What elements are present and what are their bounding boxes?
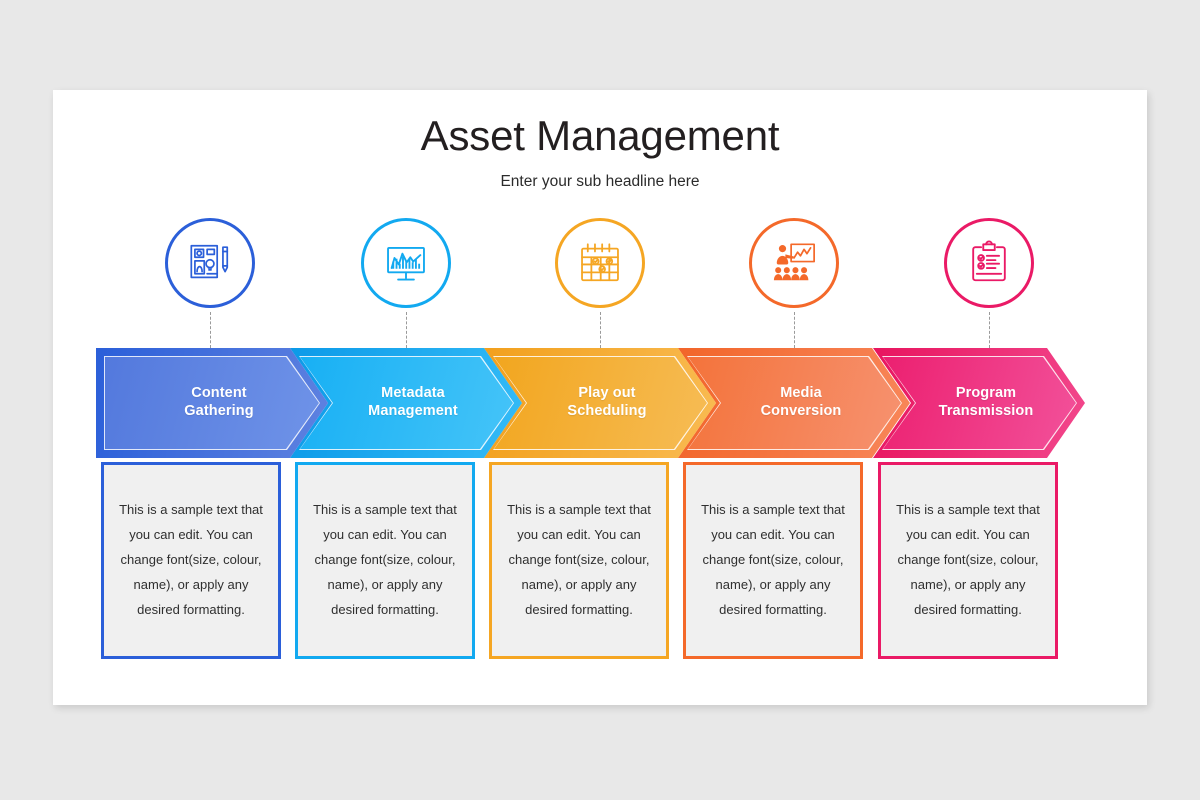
- banner-label-content-gathering: ContentGathering: [96, 348, 328, 458]
- banner-label-line2: Management: [368, 403, 458, 421]
- banner-label-line1: Content: [191, 385, 246, 403]
- banner-label-line1: Play out: [578, 385, 635, 403]
- banner-label-line1: Media: [780, 385, 822, 403]
- slide-canvas: Asset Management Enter your sub headline…: [53, 90, 1147, 705]
- stage-banner-content-gathering[interactable]: ContentGathering: [96, 348, 328, 458]
- banner-label-line1: Program: [956, 385, 1016, 403]
- icon-circle-program-transmission[interactable]: [944, 218, 1034, 308]
- banner-label-line2: Transmission: [939, 403, 1034, 421]
- banner-label-line2: Scheduling: [567, 403, 646, 421]
- clipboard-checklist-icon: [966, 240, 1012, 286]
- description-text: This is a sample text that you can edit.…: [890, 498, 1046, 623]
- banner-label-line1: Metadata: [381, 385, 445, 403]
- description-card-program-transmission[interactable]: This is a sample text that you can edit.…: [878, 462, 1058, 659]
- connector-line-program-transmission: [989, 312, 990, 348]
- banner-label-line2: Conversion: [761, 403, 842, 421]
- banner-label-line2: Gathering: [184, 403, 253, 421]
